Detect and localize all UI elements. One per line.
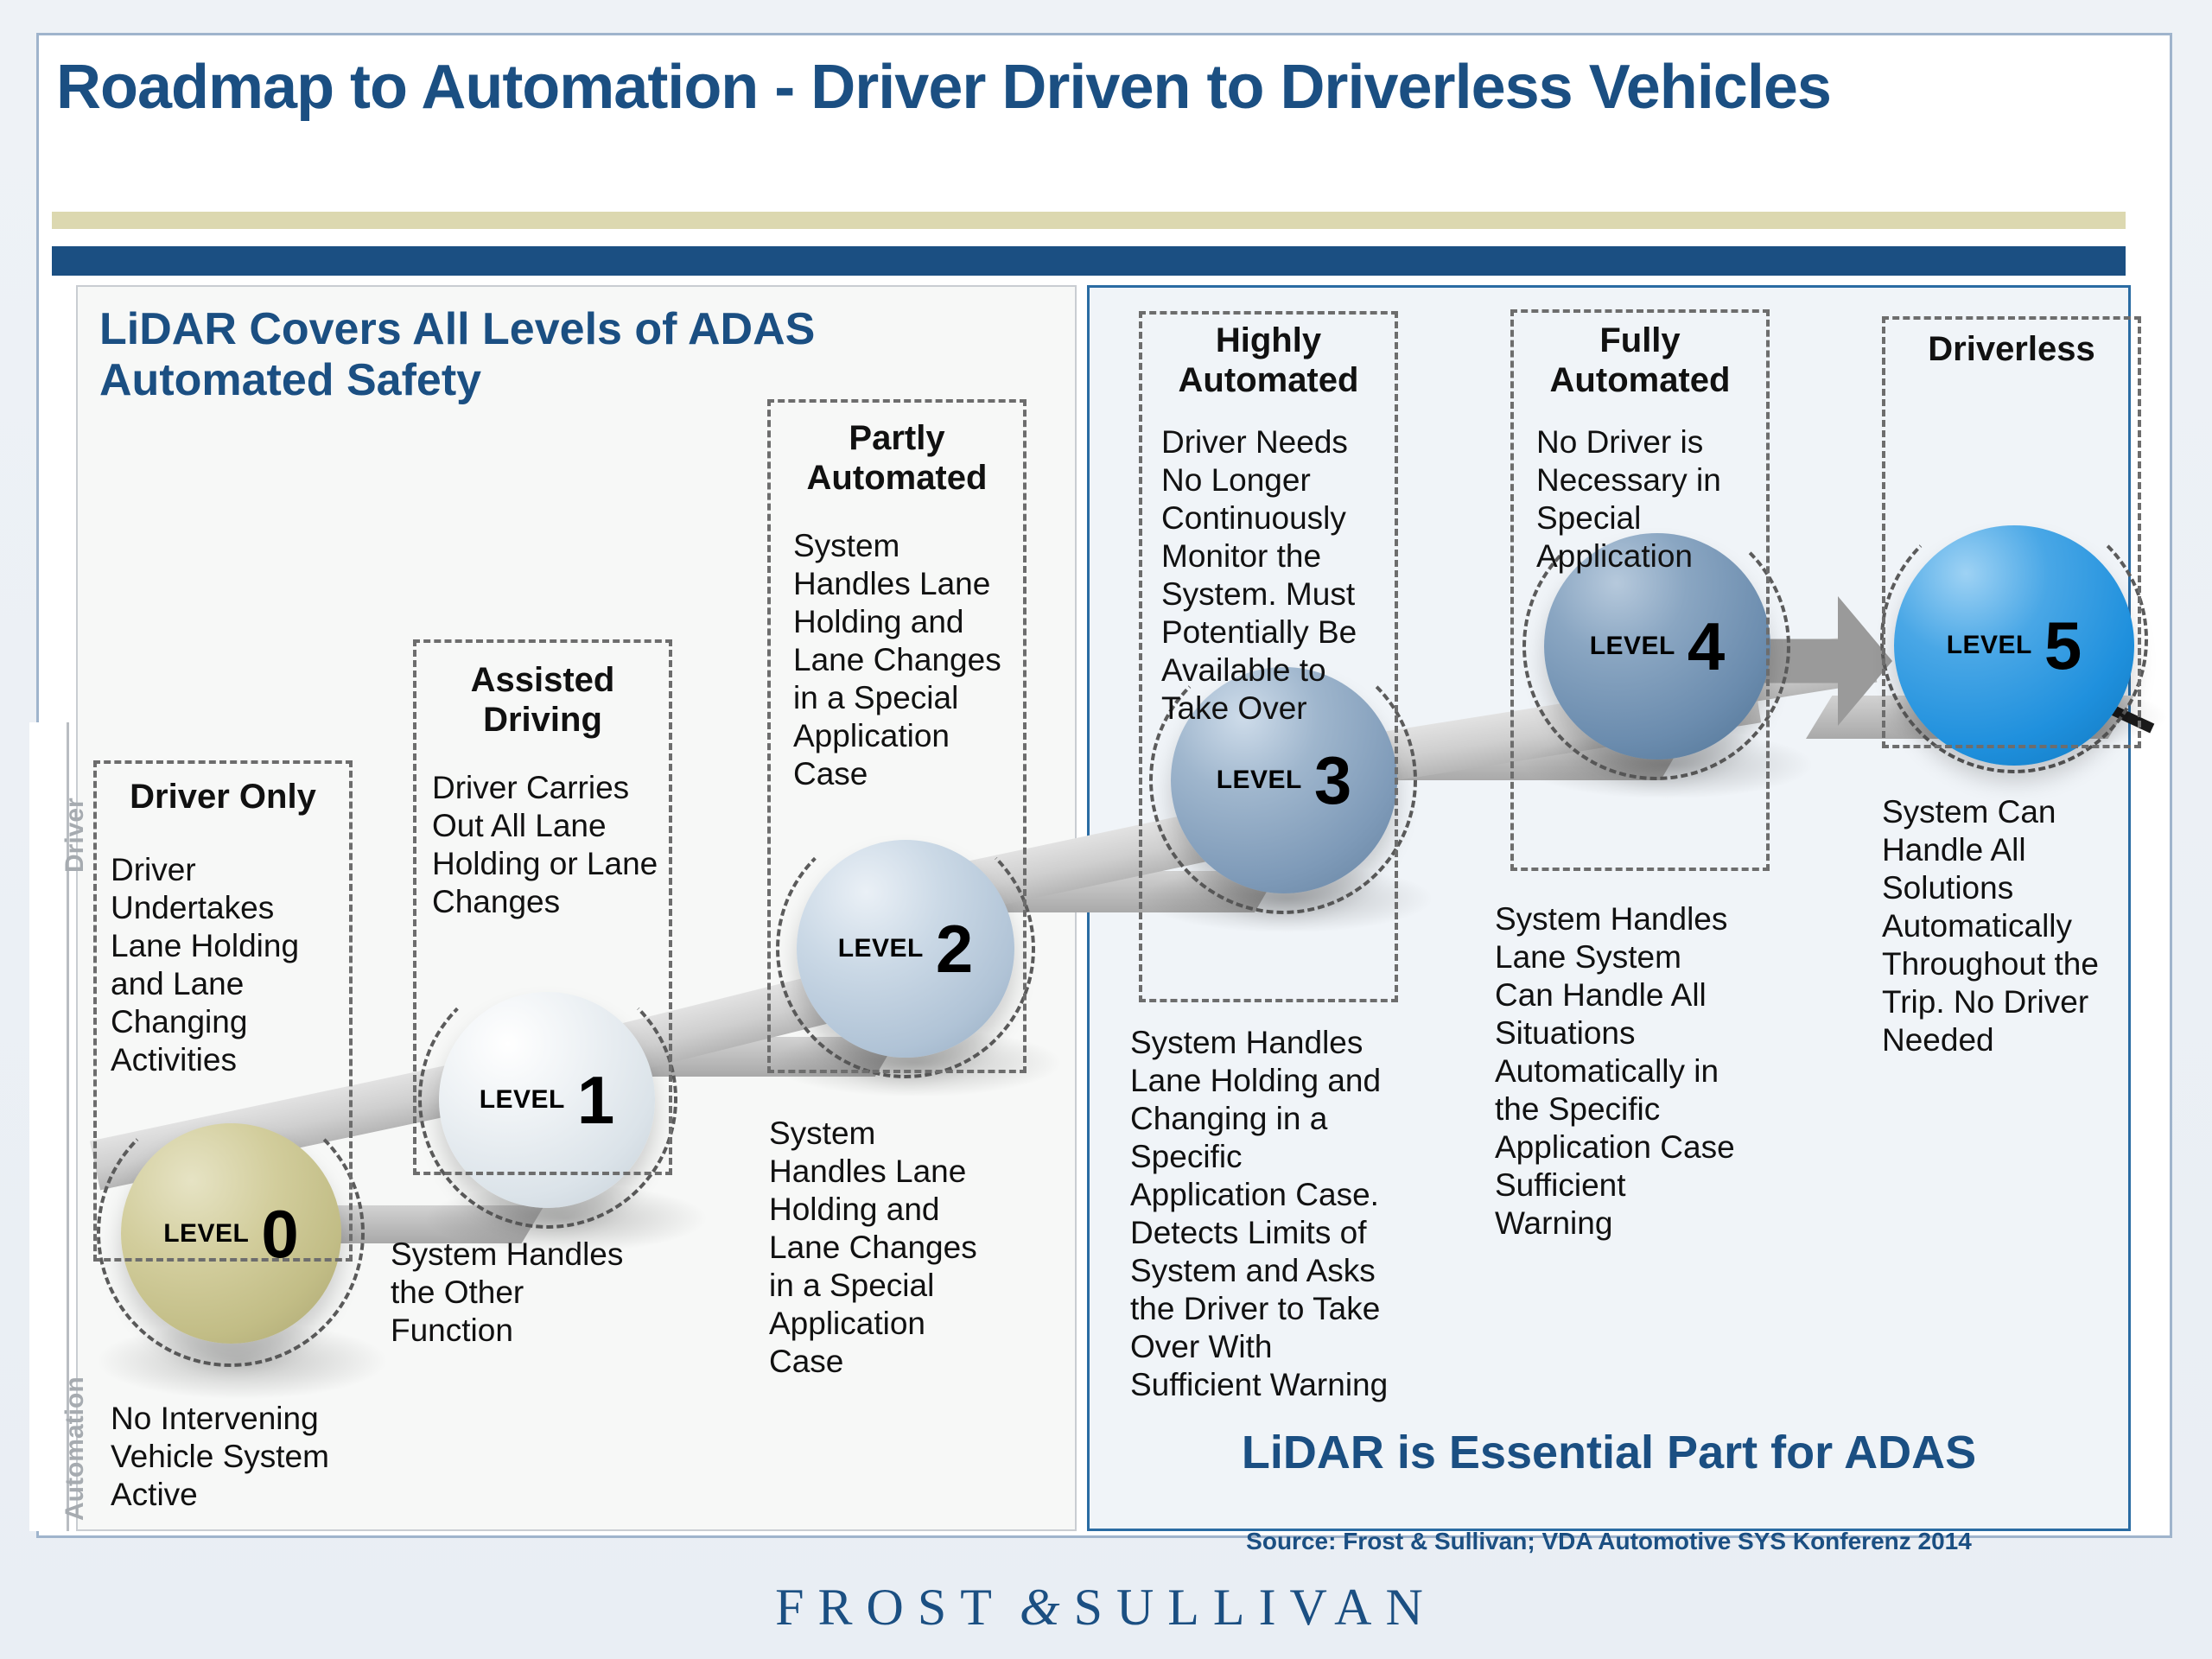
stage-below-driverless: System Can Handle All Solutions Automati…: [1882, 793, 2133, 1059]
axis-label-driver: Driver: [60, 798, 90, 873]
footer-bar: FROST&SULLIVAN: [0, 1555, 2212, 1659]
source-note: Source: Frost & Sullivan; VDA Automotive…: [1087, 1528, 2131, 1555]
stage-title-highly-automated: Highly Automated: [1147, 321, 1389, 400]
stage-body-assisted-driving: Driver Carries Out All Lane Holding or L…: [432, 769, 658, 921]
brand-logo-left: FROST: [775, 1579, 1006, 1636]
stage-title-fully-automated: Fully Automated: [1519, 321, 1761, 400]
page-title: Roadmap to Automation - Driver Driven to…: [56, 52, 2069, 123]
slide-root: Roadmap to Automation - Driver Driven to…: [0, 0, 2212, 1659]
tan-divider: [52, 212, 2126, 229]
stage-below-fully-automated: System Handles Lane System Can Handle Al…: [1495, 900, 1745, 1243]
stage-body-driver-only: Driver Undertakes Lane Holding and Lane …: [111, 851, 309, 1079]
stage-below-partly-automated: System Handles Lane Holding and Lane Cha…: [769, 1115, 994, 1381]
stage-body-highly-automated: Driver Needs No Longer Continuously Moni…: [1161, 423, 1384, 728]
stage-title-partly-automated: Partly Automated: [776, 419, 1018, 498]
stage-title-assisted-driving: Assisted Driving: [422, 661, 664, 740]
right-panel-footer: LiDAR is Essential Part for ADAS: [1087, 1426, 2131, 1479]
stage-body-partly-automated: System Handles Lane Holding and Lane Cha…: [793, 527, 1009, 793]
stage-below-driver-only: No Intervening Vehicle System Active: [111, 1400, 344, 1514]
stage-below-highly-automated: System Handles Lane Holding and Changing…: [1130, 1024, 1389, 1404]
brand-logo-ampersand: &: [1006, 1579, 1074, 1636]
stage-title-driver-only: Driver Only: [102, 778, 344, 817]
stage-title-driverless: Driverless: [1891, 330, 2133, 370]
axis-label-automation: Automation: [60, 1376, 90, 1521]
stage-box-driverless: [1882, 316, 2141, 748]
blue-divider: [52, 246, 2126, 276]
brand-logo: FROST&SULLIVAN: [775, 1578, 1437, 1637]
stage-below-assisted-driving: System Handles the Other Function: [391, 1236, 641, 1350]
brand-logo-right: SULLIVAN: [1074, 1579, 1437, 1636]
stage-body-fully-automated: No Driver is Necessary in Special Applic…: [1536, 423, 1756, 575]
left-panel-heading: LiDAR Covers All Levels of ADAS Automate…: [99, 304, 1015, 407]
